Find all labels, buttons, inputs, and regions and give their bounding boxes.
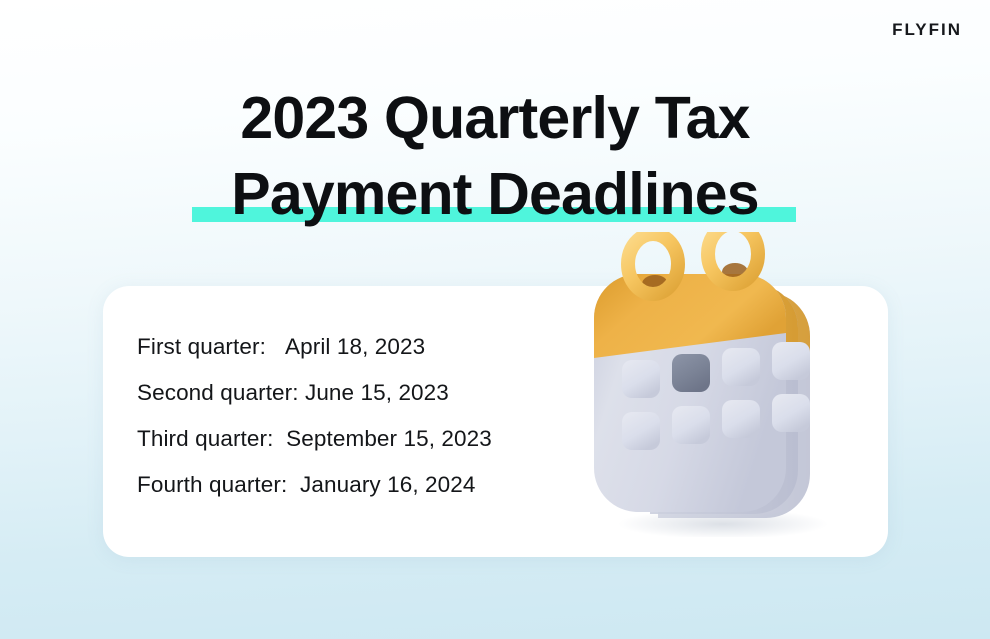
flyfin-wordmark-icon: FLYFIN bbox=[892, 21, 962, 38]
deadline-date: January 16, 2024 bbox=[300, 472, 475, 498]
brand-logo: FLYFIN bbox=[892, 21, 962, 38]
calendar-tile bbox=[722, 400, 760, 438]
calendar-tile bbox=[722, 348, 760, 386]
calendar-tile bbox=[772, 342, 810, 380]
list-item: First quarter: April 18, 2023 bbox=[137, 334, 492, 380]
deadline-date: April 18, 2023 bbox=[285, 334, 425, 360]
deadline-gap bbox=[287, 472, 300, 498]
deadline-label: First quarter: bbox=[137, 334, 266, 360]
calendar-tile bbox=[622, 360, 660, 398]
list-item: Second quarter: June 15, 2023 bbox=[137, 380, 492, 426]
deadline-date: June 15, 2023 bbox=[305, 380, 449, 406]
list-item: Third quarter: September 15, 2023 bbox=[137, 426, 492, 472]
calendar-tile bbox=[772, 394, 810, 432]
calendar-3d-icon bbox=[588, 232, 853, 537]
page-title-line-2: Payment Deadlines bbox=[0, 156, 990, 232]
deadline-date: September 15, 2023 bbox=[286, 426, 492, 452]
deadline-gap bbox=[266, 334, 285, 360]
page-title: 2023 Quarterly Tax Payment Deadlines bbox=[0, 80, 990, 232]
deadline-label: Third quarter: bbox=[137, 426, 273, 452]
deadline-gap bbox=[273, 426, 286, 452]
calendar-tile bbox=[622, 412, 660, 450]
page-title-line-2-text: Payment Deadlines bbox=[231, 161, 758, 227]
list-item: Fourth quarter: January 16, 2024 bbox=[137, 472, 492, 518]
calendar-tile bbox=[672, 406, 710, 444]
deadline-label: Second quarter: bbox=[137, 380, 299, 406]
deadlines-list: First quarter: April 18, 2023 Second qua… bbox=[137, 334, 492, 518]
calendar-front-page bbox=[594, 274, 786, 512]
page-title-line-1: 2023 Quarterly Tax bbox=[0, 80, 990, 156]
calendar-tile-highlighted bbox=[672, 354, 710, 392]
deadline-label: Fourth quarter: bbox=[137, 472, 287, 498]
